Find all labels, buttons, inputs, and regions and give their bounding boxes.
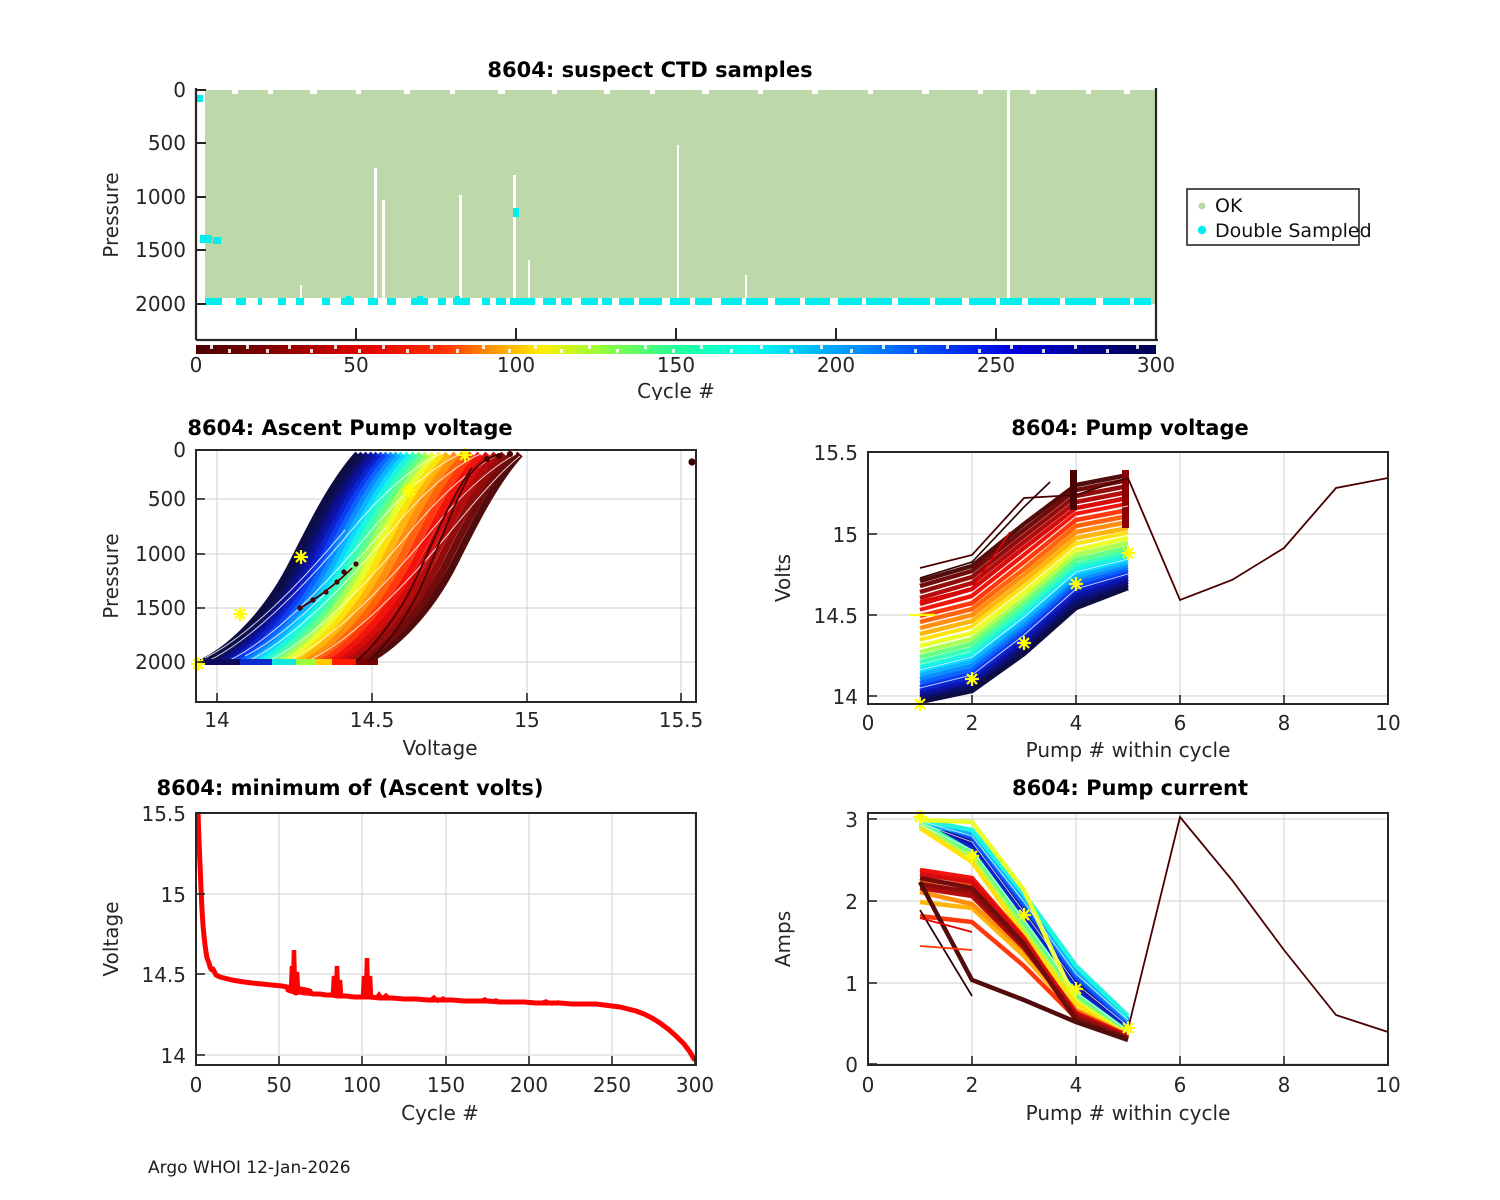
ascent-ytick-500: 500 xyxy=(148,487,186,511)
mv-xtick-300: 300 xyxy=(676,1073,714,1097)
ytick-500: 500 xyxy=(148,131,186,155)
mv-xtick-0: 0 xyxy=(190,1073,203,1097)
xtick-300: 300 xyxy=(1137,353,1175,377)
pv-xtick-6: 6 xyxy=(1174,711,1187,735)
ytick-2000: 2000 xyxy=(135,292,186,316)
ytick-1500: 1500 xyxy=(135,238,186,262)
pv-xtick-8: 8 xyxy=(1278,711,1291,735)
ascent-xlabel: Voltage xyxy=(402,736,477,760)
pc-xtick-10: 10 xyxy=(1375,1073,1400,1097)
mv-ytick-15p5: 15.5 xyxy=(141,802,186,826)
pv-xtick-4: 4 xyxy=(1070,711,1083,735)
ascent-ytick-0: 0 xyxy=(173,438,186,462)
pump-current-chart: 3 2 1 0 0 2 4 6 8 10 Pump # within cycle… xyxy=(740,770,1500,1130)
ascent-xtick-15p5: 15.5 xyxy=(659,708,704,732)
legend-label-ok: OK xyxy=(1215,195,1243,217)
panel-title-pump-voltage: 8604: Pump voltage xyxy=(800,416,1460,440)
legend-swatch-ok-icon xyxy=(1198,202,1205,209)
pump-current-ylabel: Amps xyxy=(771,911,795,967)
panel-title-suspect: 8604: suspect CTD samples xyxy=(0,58,1300,82)
panel-pump-current: 8604: Pump current xyxy=(740,770,1500,1130)
pc-ytick-2: 2 xyxy=(845,890,858,914)
panel-title-min-ascent-volts: 8604: minimum of (Ascent volts) xyxy=(0,776,700,800)
mv-ytick-14: 14 xyxy=(161,1044,186,1068)
suspect-ylabel: Pressure xyxy=(99,172,123,257)
min-ascent-volts-chart: 15.5 15 14.5 14 0 50 100 150 200 250 300 xyxy=(0,770,740,1130)
xtick-100: 100 xyxy=(497,353,535,377)
pc-xtick-4: 4 xyxy=(1070,1073,1083,1097)
panel-ascent-pump-voltage: 8604: Ascent Pump voltage xyxy=(0,412,740,762)
pv-ytick-15: 15 xyxy=(833,523,858,547)
pv-xtick-10: 10 xyxy=(1375,711,1400,735)
min-volts-ylabel: Voltage xyxy=(99,901,123,976)
xtick-50: 50 xyxy=(343,353,368,377)
legend-suspect[interactable]: OK Double Sampled xyxy=(1187,189,1372,245)
min-volts-xlabel: Cycle # xyxy=(401,1101,479,1125)
xtick-150: 150 xyxy=(657,353,695,377)
pv-ytick-14p5: 14.5 xyxy=(813,604,858,628)
ascent-y-ticks: 0 500 1000 1500 2000 xyxy=(135,438,205,674)
mv-xtick-50: 50 xyxy=(266,1073,291,1097)
ascent-ytick-2000: 2000 xyxy=(135,650,186,674)
mv-xtick-250: 250 xyxy=(593,1073,631,1097)
panel-suspect-ctd-samples: 8604: suspect CTD samples xyxy=(0,50,1440,400)
legend-swatch-double-sampled-icon xyxy=(1198,226,1206,234)
ok-sample-region xyxy=(196,90,1156,308)
ascent-ytick-1000: 1000 xyxy=(135,542,186,566)
legend-label-double-sampled: Double Sampled xyxy=(1215,220,1372,242)
panel-title-pump-current: 8604: Pump current xyxy=(800,776,1460,800)
pc-ytick-0: 0 xyxy=(845,1053,858,1077)
pc-ytick-1: 1 xyxy=(845,972,858,996)
pv-xtick-2: 2 xyxy=(966,711,979,735)
mv-ytick-14p5: 14.5 xyxy=(141,963,186,987)
pc-xtick-2: 2 xyxy=(966,1073,979,1097)
mv-xtick-200: 200 xyxy=(510,1073,548,1097)
pv-xtick-0: 0 xyxy=(862,711,875,735)
xtick-0: 0 xyxy=(190,353,203,377)
figure-footer: Argo WHOI 12-Jan-2026 xyxy=(148,1158,351,1178)
ascent-pump-voltage-chart: 0 500 1000 1500 2000 14 14.5 15 xyxy=(0,412,740,762)
panel-title-ascent-voltage: 8604: Ascent Pump voltage xyxy=(0,416,700,440)
xtick-250: 250 xyxy=(977,353,1015,377)
pv-ytick-14: 14 xyxy=(833,685,858,709)
ascent-xtick-15: 15 xyxy=(514,708,539,732)
ascent-xtick-14p5: 14.5 xyxy=(350,708,395,732)
panel-min-ascent-volts: 8604: minimum of (Ascent volts) xyxy=(0,770,740,1130)
pump-voltage-ylabel: Volts xyxy=(771,554,795,602)
pv-ytick-15p5: 15.5 xyxy=(813,441,858,465)
ascent-ylabel: Pressure xyxy=(99,533,123,618)
mv-ytick-15: 15 xyxy=(161,883,186,907)
ascent-ytick-1500: 1500 xyxy=(135,596,186,620)
suspect-ctd-chart: 0 500 1000 1500 2000 0 50 100 150 200 xyxy=(0,50,1440,400)
ascent-outlier-point xyxy=(688,458,695,465)
pump-voltage-xlabel: Pump # within cycle xyxy=(1026,738,1231,762)
ytick-1000: 1000 xyxy=(135,185,186,209)
pc-ytick-3: 3 xyxy=(845,808,858,832)
mv-xtick-150: 150 xyxy=(427,1073,465,1097)
panel-pump-voltage: 8604: Pump voltage xyxy=(740,412,1500,762)
pump-current-xlabel: Pump # within cycle xyxy=(1026,1101,1231,1125)
ascent-xtick-14: 14 xyxy=(204,708,229,732)
cycle-colorbar-strip xyxy=(196,345,1156,354)
suspect-xlabel: Cycle # xyxy=(637,379,715,400)
pc-xtick-6: 6 xyxy=(1174,1073,1187,1097)
mv-xtick-100: 100 xyxy=(343,1073,381,1097)
pc-xtick-8: 8 xyxy=(1278,1073,1291,1097)
pump-voltage-chart: 15.5 15 14.5 14 0 2 4 6 8 10 Pump # with… xyxy=(740,412,1500,762)
pc-xtick-0: 0 xyxy=(862,1073,875,1097)
argo-float-diagnostics-figure: 8604: suspect CTD samples xyxy=(0,0,1500,1200)
xtick-200: 200 xyxy=(817,353,855,377)
